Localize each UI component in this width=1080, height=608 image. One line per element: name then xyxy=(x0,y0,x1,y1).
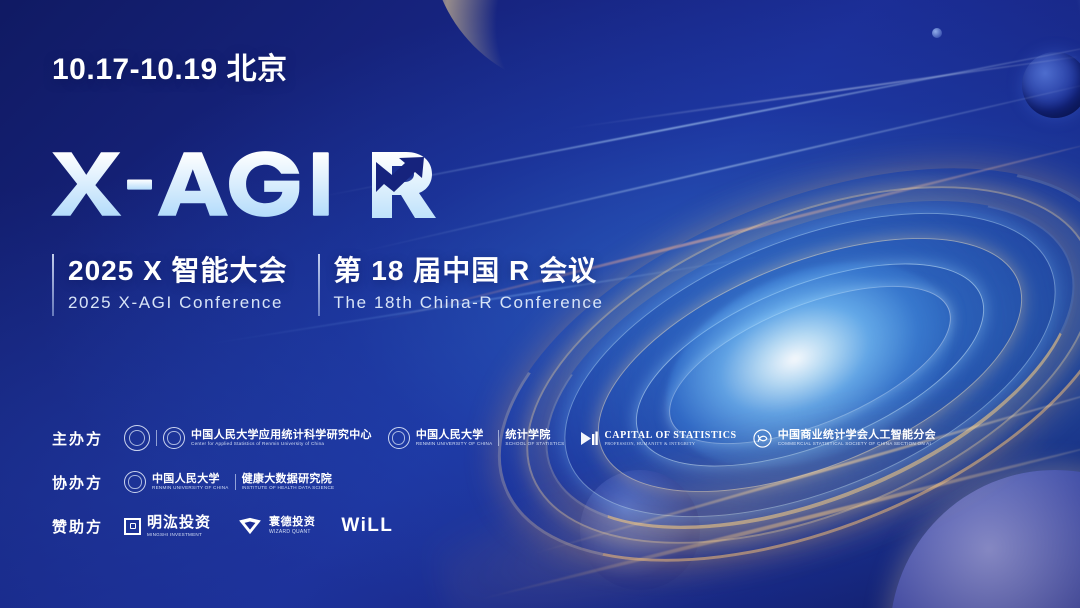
capital-of-statistics-icon xyxy=(580,430,600,447)
r-mark-logo xyxy=(362,148,440,220)
title-block-xagi: 2025 X 智能大会 2025 X-AGI Conference xyxy=(52,254,288,316)
logo-institute-health-data-science: 中国人民大学 RENMIN UNIVERSITY OF CHINA 健康大数据研… xyxy=(124,471,334,493)
logo-name-en: RENMIN UNIVERSITY OF CHINA xyxy=(152,485,229,491)
title-cn: 2025 X 智能大会 xyxy=(68,254,288,287)
title-divider xyxy=(318,254,320,316)
logo-name-cn: 中国人民大学 xyxy=(152,473,229,486)
logo-mingshi-investment: 明汯投资 MINGSHI INVESTMENT xyxy=(124,514,211,537)
title-divider xyxy=(52,254,54,316)
conference-titles: 2025 X 智能大会 2025 X-AGI Conference 第 18 届… xyxy=(52,254,604,316)
logo-name-en: Center for Applied Statistics of Renmin … xyxy=(191,441,372,447)
renmin-seal-icon xyxy=(124,471,146,493)
logo-name-en: WIZARD QUANT xyxy=(269,529,315,536)
logo-name-cn: 中国人民大学 xyxy=(416,429,493,442)
wizard-diamond-icon xyxy=(237,516,263,536)
sponsor-row-label: 赞助方 xyxy=(52,516,124,537)
logo-will: WiLL xyxy=(341,515,393,537)
sponsor-row-coorganizers: 协办方 中国人民大学 RENMIN UNIVERSITY OF CHINA 健康… xyxy=(52,468,692,496)
title-en: 2025 X-AGI Conference xyxy=(68,290,288,316)
mingshi-square-icon xyxy=(124,518,141,535)
renmin-seal-icon xyxy=(124,425,150,451)
logo-name-en: COMMERCIAL STATISTICAL SOCIETY OF CHINA … xyxy=(778,441,936,447)
sponsor-row-label: 主办方 xyxy=(52,428,124,449)
logo-name-cn: 明汯投资 xyxy=(147,514,211,531)
xagi-wordmark xyxy=(50,150,336,218)
renmin-seal-icon xyxy=(163,427,185,449)
sponsor-section: 主办方 中国人民大学应用统计科学研究中心 Center for Applied … xyxy=(52,424,692,556)
title-cn: 第 18 届中国 R 会议 xyxy=(334,254,604,287)
logo-name-cn: 中国人民大学应用统计科学研究中心 xyxy=(191,429,372,442)
logo-name-en: RENMIN UNIVERSITY OF CHINA xyxy=(416,441,493,447)
conference-poster: 10.17-10.19 北京 xyxy=(0,0,1080,608)
renmin-seal-icon xyxy=(388,427,410,449)
logo-wizard-quant: 寰德投资 WIZARD QUANT xyxy=(237,516,315,536)
sponsor-row-label: 协办方 xyxy=(52,472,124,493)
title-en: The 18th China-R Conference xyxy=(334,290,604,316)
title-block-china-r: 第 18 届中国 R 会议 The 18th China-R Conferenc… xyxy=(318,254,604,316)
logo-subunit-en: INSTITUTE OF HEALTH DATA SCIENCE xyxy=(242,485,335,491)
sponsor-row-organizers: 主办方 中国人民大学应用统计科学研究中心 Center for Applied … xyxy=(52,424,692,452)
logo-center-applied-statistics: 中国人民大学应用统计科学研究中心 Center for Applied Stat… xyxy=(124,425,372,451)
sponsor-row-sponsors: 赞助方 明汯投资 MINGSHI INVESTMENT xyxy=(52,512,692,540)
logo-name-cn: 寰德投资 xyxy=(269,516,315,529)
logo-cssc-ai-section: 中国商业统计学会人工智能分会 COMMERCIAL STATISTICAL SO… xyxy=(753,429,936,448)
cssc-ai-section-icon xyxy=(753,429,772,448)
logo-name-en: MINGSHI INVESTMENT xyxy=(147,532,211,538)
logo-subunit-cn: 健康大数据研究院 xyxy=(242,473,335,486)
logo-name-cn: 中国商业统计学会人工智能分会 xyxy=(778,429,936,442)
logo-name-en: PROFESSION, HUMANITY & INTEGRITY xyxy=(604,441,736,446)
logo-name-cn: CAPITAL OF STATISTICS xyxy=(604,430,736,441)
logo-capital-of-statistics: CAPITAL OF STATISTICS PROFESSION, HUMANI… xyxy=(580,430,736,447)
date-location: 10.17-10.19 北京 xyxy=(52,44,287,88)
brand-lockup xyxy=(50,148,440,220)
logo-subunit-cn: 统计学院 xyxy=(505,429,564,442)
logo-school-of-statistics: 中国人民大学 RENMIN UNIVERSITY OF CHINA 统计学院 S… xyxy=(388,427,565,449)
logo-subunit-en: SCHOOL OF STATISTICS xyxy=(505,441,564,447)
